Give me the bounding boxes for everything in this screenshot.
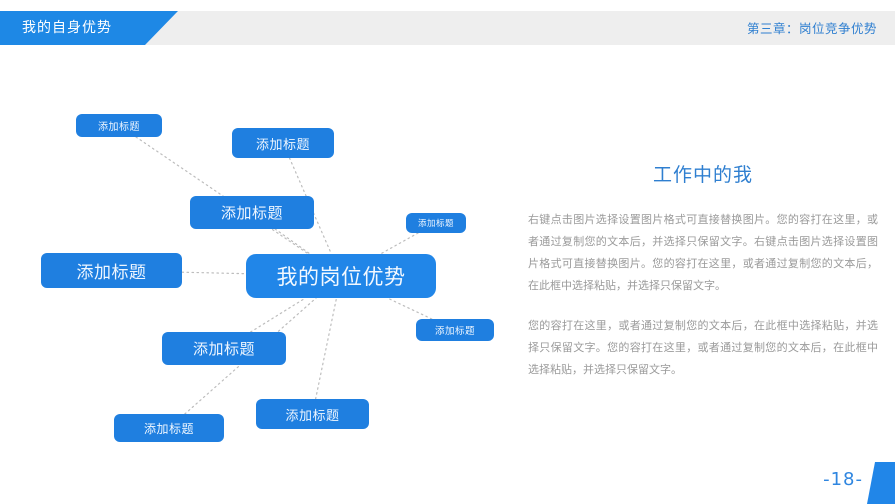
- mindmap-node[interactable]: 添加标题: [162, 332, 286, 365]
- header-tab-label: 我的自身优势: [22, 17, 112, 39]
- panel-title: 工作中的我: [528, 160, 878, 187]
- mindmap-node[interactable]: 添加标题: [256, 399, 369, 429]
- mindmap-connector: [275, 229, 310, 254]
- page-number: -18-: [823, 469, 863, 490]
- mindmap-node[interactable]: 添加标题: [190, 196, 314, 229]
- slide-canvas: 我的自身优势 第三章：岗位竞争优势 我的岗位优势添加标题添加标题添加标题添加标题…: [0, 0, 895, 504]
- mindmap-node[interactable]: 添加标题: [406, 213, 466, 233]
- mindmap-node[interactable]: 添加标题: [416, 319, 494, 341]
- mindmap: 我的岗位优势添加标题添加标题添加标题添加标题添加标题添加标题添加标题添加标题添加…: [0, 50, 520, 480]
- corner-accent-shape: [867, 462, 895, 504]
- mindmap-connector: [316, 298, 337, 399]
- mindmap-node[interactable]: 添加标题: [76, 114, 162, 137]
- text-panel: 工作中的我 右键点击图片选择设置图片格式可直接替换图片。您的容打在这里，或者通过…: [528, 160, 878, 399]
- mindmap-connector: [387, 298, 431, 319]
- mindmap-node[interactable]: 添加标题: [232, 128, 334, 158]
- chapter-label: 第三章：岗位竞争优势: [747, 18, 877, 37]
- mindmap-connector: [380, 233, 418, 254]
- mindmap-connector: [182, 272, 246, 274]
- panel-paragraph: 您的容打在这里，或者通过复制您的文本后，在此框中选择粘贴，并选择只保留文字。您的…: [528, 315, 878, 381]
- panel-paragraph: 右键点击图片选择设置图片格式可直接替换图片。您的容打在这里，或者通过复制您的文本…: [528, 209, 878, 297]
- mindmap-node[interactable]: 添加标题: [41, 253, 182, 288]
- mindmap-node[interactable]: 添加标题: [114, 414, 224, 442]
- mindmap-center-node[interactable]: 我的岗位优势: [246, 254, 436, 298]
